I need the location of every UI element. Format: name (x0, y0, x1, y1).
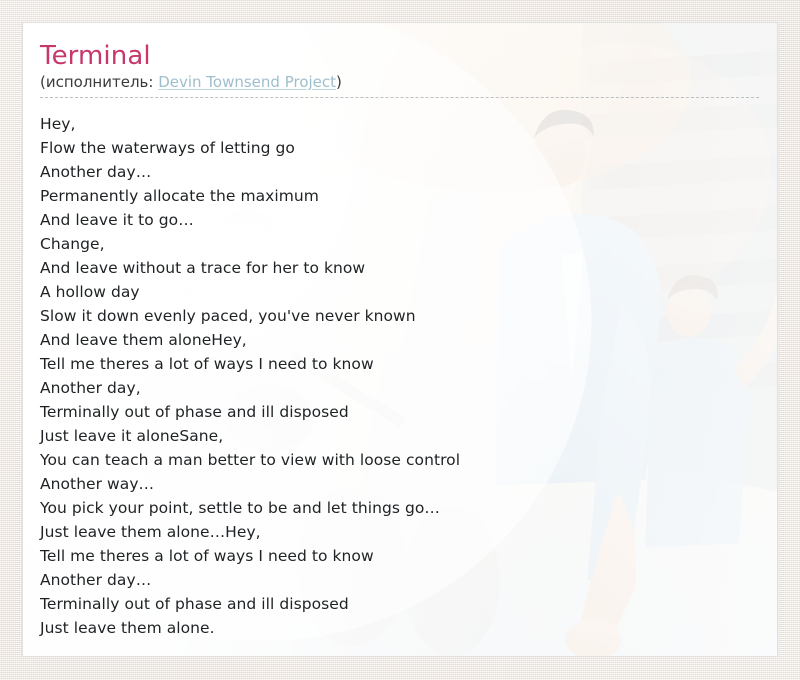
lyric-line: And leave it to go… (40, 208, 759, 232)
lyric-line: Just leave them alone. (40, 616, 759, 640)
lyric-line: Terminally out of phase and ill disposed (40, 592, 759, 616)
lyric-line: Another day… (40, 568, 759, 592)
lyric-line: And leave without a trace for her to kno… (40, 256, 759, 280)
lyric-line: Slow it down evenly paced, you've never … (40, 304, 759, 328)
artist-suffix-label: ) (336, 73, 342, 91)
song-header: Terminal (исполнитель: Devin Townsend Pr… (40, 41, 759, 98)
lyric-line: Tell me theres a lot of ways I need to k… (40, 544, 759, 568)
lyric-line: You can teach a man better to view with … (40, 448, 759, 472)
lyric-line: Hey, (40, 112, 759, 136)
page-title: Terminal (40, 41, 759, 71)
lyric-line: You pick your point, settle to be and le… (40, 496, 759, 520)
artist-prefix-label: (исполнитель: (40, 73, 158, 91)
artist-line: (исполнитель: Devin Townsend Project) (40, 72, 759, 93)
lyric-line: Permanently allocate the maximum (40, 184, 759, 208)
lyric-line: Tell me theres a lot of ways I need to k… (40, 352, 759, 376)
lyric-line: A hollow day (40, 280, 759, 304)
lyric-line: Just leave them alone…Hey, (40, 520, 759, 544)
lyric-line: Another day, (40, 376, 759, 400)
lyric-line: Flow the waterways of letting go (40, 136, 759, 160)
artist-link[interactable]: Devin Townsend Project (158, 73, 336, 91)
lyric-line: Terminally out of phase and ill disposed (40, 400, 759, 424)
lyric-line: Change, (40, 232, 759, 256)
lyric-line: Another way… (40, 472, 759, 496)
lyrics-card: Terminal (исполнитель: Devin Townsend Pr… (22, 22, 778, 657)
lyric-line: And leave them aloneHey, (40, 328, 759, 352)
lyric-line: Another day… (40, 160, 759, 184)
lyrics-text: Hey,Flow the waterways of letting goAnot… (40, 112, 759, 640)
lyric-line: Just leave it aloneSane, (40, 424, 759, 448)
